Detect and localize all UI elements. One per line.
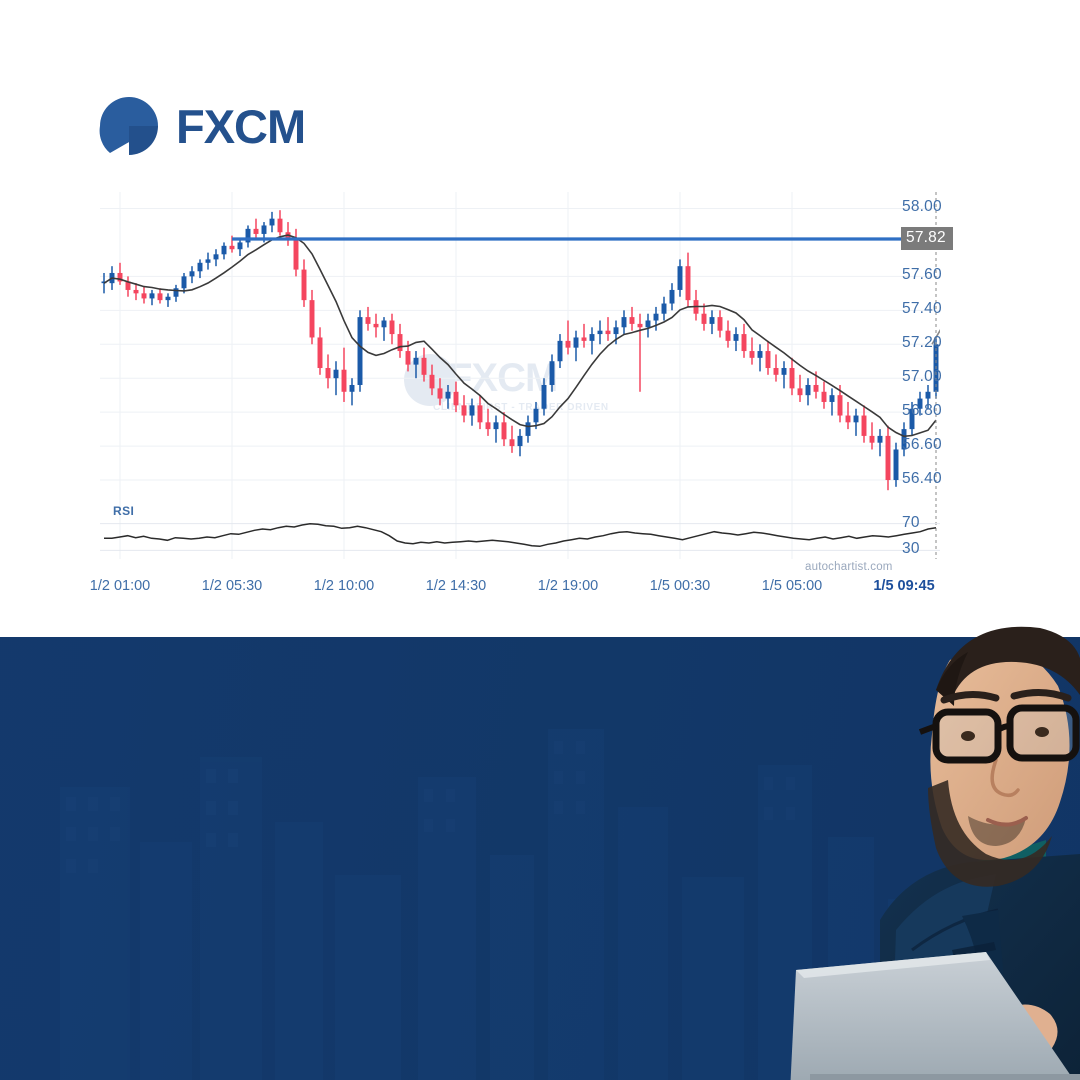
- target-arrow: [932, 242, 940, 344]
- y-axis-label: 56.40: [902, 470, 942, 488]
- rsi-indicator: [100, 524, 940, 551]
- chart-area: FXCM FXCM CLIENT FIRST - TRADER DRIVEN: [0, 0, 1080, 637]
- vertical-gridlines: [120, 192, 792, 559]
- y-axis-label: 58.00: [902, 198, 942, 216]
- x-axis-label: 1/2 01:00: [90, 578, 150, 594]
- y-axis-label: 57.00: [902, 368, 942, 386]
- y-axis-label: 57.60: [902, 266, 942, 284]
- chart-svg: [100, 192, 940, 582]
- y-axis-label: 56.80: [902, 402, 942, 420]
- y-axis-label: 57.40: [902, 300, 942, 318]
- trader-photo: [700, 620, 1080, 1080]
- price-tag-57-82: 57.82: [901, 227, 953, 250]
- x-axis-label: 1/5 00:30: [650, 578, 710, 594]
- x-axis-label: 1/2 14:30: [426, 578, 486, 594]
- y-axis-label: 57.20: [902, 334, 942, 352]
- x-axis-label: 1/5 05:00: [762, 578, 822, 594]
- rsi-label: RSI: [113, 504, 134, 518]
- rsi-axis-label: 30: [902, 540, 920, 558]
- rsi-axis-label: 70: [902, 514, 920, 532]
- x-axis-label: 1/2 05:30: [202, 578, 262, 594]
- promo-card: FXCM FXCM CLIENT FIRST - TRADER DRIVEN: [0, 0, 1080, 1080]
- x-axis-label: 1/5 09:45: [873, 578, 934, 594]
- x-axis-label: 1/2 10:00: [314, 578, 374, 594]
- moving-average-line: [104, 235, 936, 436]
- chart-attribution: autochartist.com: [805, 561, 893, 573]
- price-chart: [100, 192, 940, 582]
- svg-text:FXCM: FXCM: [176, 100, 305, 153]
- fxcm-logo-icon: FXCM: [98, 95, 348, 157]
- y-axis-label: 56.60: [902, 436, 942, 454]
- x-axis-label: 1/2 19:00: [538, 578, 598, 594]
- candlestick-series: [102, 210, 939, 490]
